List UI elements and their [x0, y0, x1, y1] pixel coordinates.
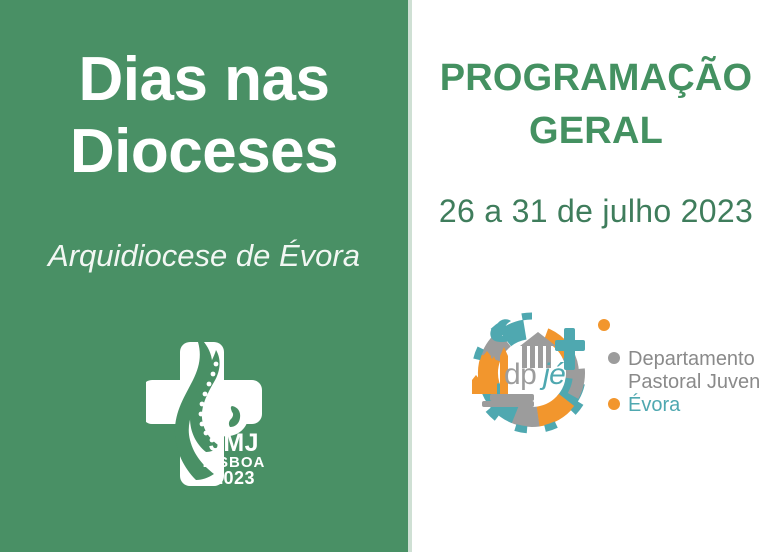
- dpje-text-line-2: Pastoral Juvenil: [628, 371, 760, 393]
- svg-text:2023: 2023: [213, 468, 255, 486]
- bullet-gray-1: [608, 352, 620, 364]
- program-dates: 26 a 31 de julho 2023: [412, 193, 780, 230]
- bullet-orange-2: [598, 319, 610, 331]
- svg-text:JMJ: JMJ: [209, 429, 259, 457]
- dpje-text-line-1: Departamento: [628, 348, 755, 370]
- program-heading-line-1: PROGRAMAÇÃO: [412, 52, 780, 105]
- event-title: Dias nas Dioceses: [0, 44, 408, 188]
- program-heading-line-2: GERAL: [412, 105, 780, 158]
- bullet-orange-1: [608, 398, 620, 410]
- dpje-monogram-je: jé: [539, 358, 565, 391]
- dpje-text-line-3: Évora: [628, 393, 681, 416]
- event-title-line-2: Dioceses: [0, 116, 408, 188]
- program-heading: PROGRAMAÇÃO GERAL: [412, 52, 780, 158]
- event-title-line-1: Dias nas: [0, 44, 408, 116]
- right-white-panel: PROGRAMAÇÃO GERAL 26 a 31 de julho 2023: [412, 0, 780, 552]
- dpje-monogram-dp: dp: [504, 358, 536, 391]
- jmj-lisboa-2023-logo: JMJ LISBOA 2023: [146, 336, 270, 486]
- event-subtitle: Arquidiocese de Évora: [0, 238, 408, 274]
- poster-root: Dias nas Dioceses Arquidiocese de Évora: [0, 0, 780, 552]
- dpje-evora-logo: dp jé Departamento Pastoral Juvenil Évor…: [460, 298, 760, 448]
